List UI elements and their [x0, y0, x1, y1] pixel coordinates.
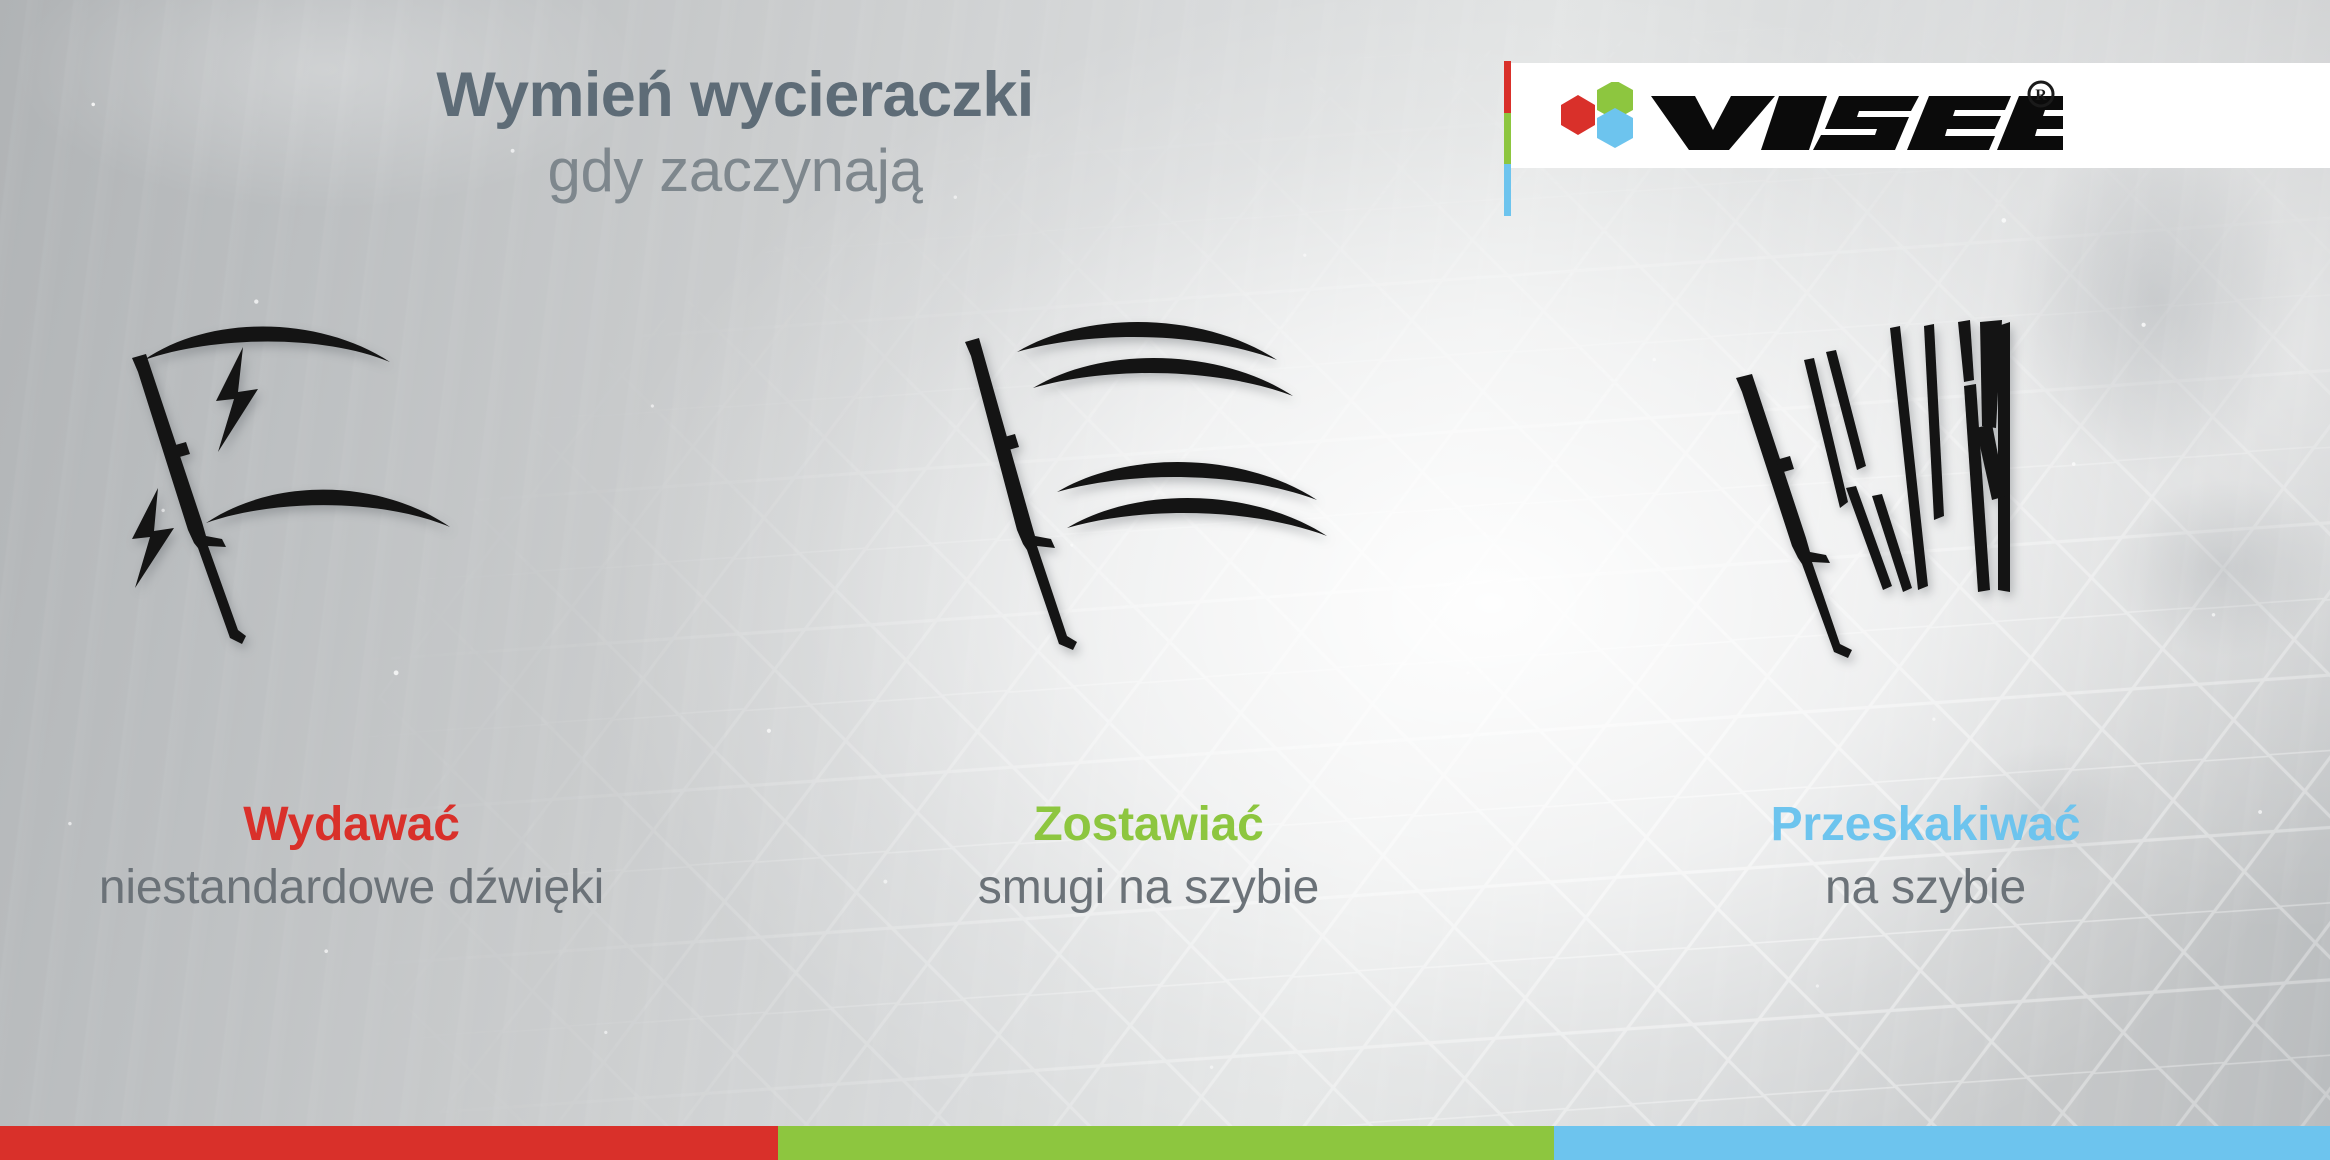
headline-line-2: gdy zaczynają	[0, 139, 1470, 203]
symptom-description-1: niestandardowe dźwięki	[0, 863, 746, 914]
wiper-noise-icon	[110, 300, 510, 700]
bottom-tricolor-bar	[0, 1126, 2330, 1160]
headline-block: Wymień wycieraczki gdy zaczynają	[0, 62, 1470, 202]
symptom-icon-cell-1	[0, 300, 777, 790]
tricolor-accent-bar	[1504, 61, 1511, 216]
visee-wordmark: R	[1643, 78, 2063, 158]
symptom-icon-row	[0, 300, 2330, 790]
accent-segment-blue	[1504, 164, 1511, 216]
accent-segment-green	[1504, 113, 1511, 165]
symptom-icon-cell-2	[777, 300, 1554, 790]
svg-text:R: R	[2035, 87, 2047, 104]
bottom-bar-green	[778, 1126, 1554, 1160]
slide-stage: Wymień wycieraczki gdy zaczynają	[0, 0, 2330, 1160]
hex-blue	[1597, 108, 1633, 148]
wiper-streaks-icon	[945, 300, 1345, 700]
symptom-caption-1: Wydawać niestandardowe dźwięki	[0, 800, 774, 914]
registered-trademark-icon: R	[2029, 82, 2053, 106]
bottom-bar-red	[0, 1126, 778, 1160]
symptom-icon-cell-3	[1553, 300, 2330, 790]
symptom-caption-row: Wydawać niestandardowe dźwięki Zostawiać…	[0, 800, 2330, 914]
symptom-caption-3: Przeskakiwać na szybie	[1541, 800, 2330, 914]
symptom-term-1: Wydawać	[0, 800, 746, 851]
accent-segment-red	[1504, 61, 1511, 113]
symptom-description-3: na szybie	[1531, 863, 2320, 914]
headline-line-1: Wymień wycieraczki	[0, 62, 1470, 129]
symptom-term-2: Zostawiać	[754, 800, 1543, 851]
symptom-caption-2: Zostawiać smugi na szybie	[762, 800, 1551, 914]
hexagon-cluster-icon	[1551, 82, 1648, 154]
brand-logo-panel[interactable]: R	[1504, 63, 2330, 168]
hex-red	[1561, 95, 1595, 135]
bottom-bar-blue	[1554, 1126, 2330, 1160]
symptom-description-2: smugi na szybie	[754, 863, 1543, 914]
wiper-judder-icon	[1714, 300, 2114, 700]
visee-logo[interactable]: R	[1551, 78, 2063, 158]
symptom-term-3: Przeskakiwać	[1531, 800, 2320, 851]
